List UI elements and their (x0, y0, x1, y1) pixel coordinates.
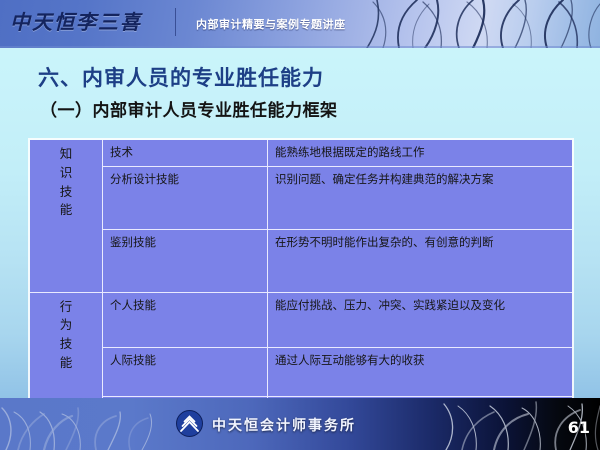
page-title: 六、内审人员的专业胜任能力 (38, 62, 324, 92)
skill-name-cell: 人际技能 (103, 348, 268, 397)
mountain-chevron-circle-icon (176, 410, 203, 437)
group-label-char: 知 (60, 145, 73, 164)
page-subtitle: （一）内部审计人员专业胜任能力框架 (40, 96, 338, 121)
slide-footer: 中天恒会计师事务所 61 (0, 398, 600, 450)
page-number: 61 (568, 418, 590, 437)
header-bottom-rule (0, 46, 600, 48)
group-label-char: 为 (60, 316, 73, 335)
footer-firm-name: 中天恒会计师事务所 (212, 415, 356, 435)
group-label-char: 能 (60, 354, 73, 373)
skill-name-cell: 鉴别技能 (103, 230, 268, 293)
group-label-char: 技 (60, 183, 73, 202)
group-label-char: 能 (60, 201, 73, 220)
skill-description-cell: 在形势不明时能作出复杂的、有创意的判断 (268, 230, 572, 293)
group-label-cell: 知 识 技 能 (30, 140, 103, 293)
table-row: 知 识 技 能 技术 能熟练地根据既定的路线工作 (30, 140, 572, 167)
group-label-char: 识 (60, 164, 73, 183)
skill-description-cell: 能熟练地根据既定的路线工作 (268, 140, 572, 167)
group-label-char: 行 (60, 298, 73, 317)
group-label-vertical: 知 识 技 能 (60, 145, 73, 220)
table-row: 人际技能 通过人际互动能够有大的收获 (30, 348, 572, 397)
skill-description-cell: 识别问题、确定任务并构建典范的解决方案 (268, 167, 572, 230)
slide-header: 中天恒李三喜 内部审计精要与案例专题讲座 (0, 0, 600, 48)
header-grass-decoration (355, 0, 600, 48)
skill-name-cell: 个人技能 (103, 293, 268, 348)
skill-description-cell: 通过人际互动能够有大的收获 (268, 348, 572, 397)
brand-calligraphy-logo: 中天恒李三喜 (10, 6, 142, 35)
slide-canvas: 中天恒李三喜 内部审计精要与案例专题讲座 六、内审人员的专业胜任能力 （一）内部… (0, 0, 600, 450)
brand-divider (175, 8, 176, 36)
table-row: 行 为 技 能 个人技能 能应付挑战、压力、冲突、实践紧迫以及变化 (30, 293, 572, 348)
skill-name-cell: 分析设计技能 (103, 167, 268, 230)
skill-name-cell: 技术 (103, 140, 268, 167)
group-label-vertical: 行 为 技 能 (60, 298, 73, 373)
table-row: 鉴别技能 在形势不明时能作出复杂的、有创意的判断 (30, 230, 572, 293)
header-subtitle: 内部审计精要与案例专题讲座 (196, 16, 346, 32)
footer-grass-decoration (0, 398, 200, 450)
table-row: 分析设计技能 识别问题、确定任务并构建典范的解决方案 (30, 167, 572, 230)
group-label-char: 技 (60, 335, 73, 354)
skill-description-cell: 能应付挑战、压力、冲突、实践紧迫以及变化 (268, 293, 572, 348)
